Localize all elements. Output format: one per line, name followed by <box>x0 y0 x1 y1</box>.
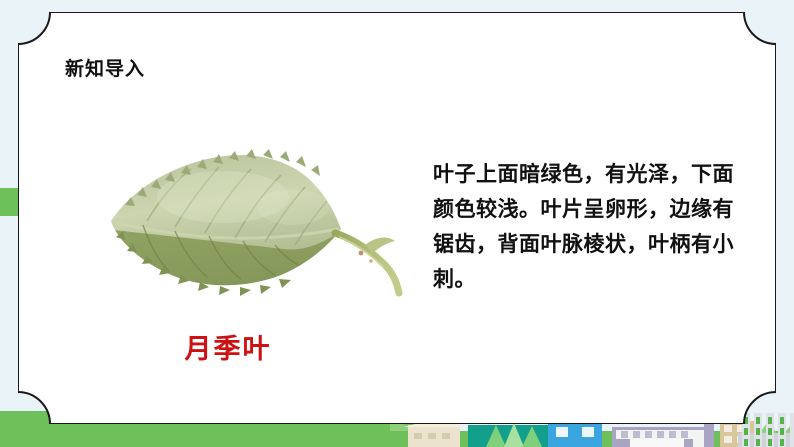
section-kicker: 新知导入 <box>65 54 145 81</box>
slide-canvas: 新知导入 <box>0 0 794 447</box>
leaf-description-text: 叶子上面暗绿色，有光泽，下面颜色较浅。叶片呈卵形，边缘有锯齿，背面叶脉棱状，叶柄… <box>433 157 743 297</box>
rose-leaf-photo <box>103 137 403 322</box>
leaf-name-label: 月季叶 <box>118 327 338 366</box>
rose-leaf-svg <box>103 137 403 322</box>
slide-content: 新知导入 <box>18 12 776 424</box>
